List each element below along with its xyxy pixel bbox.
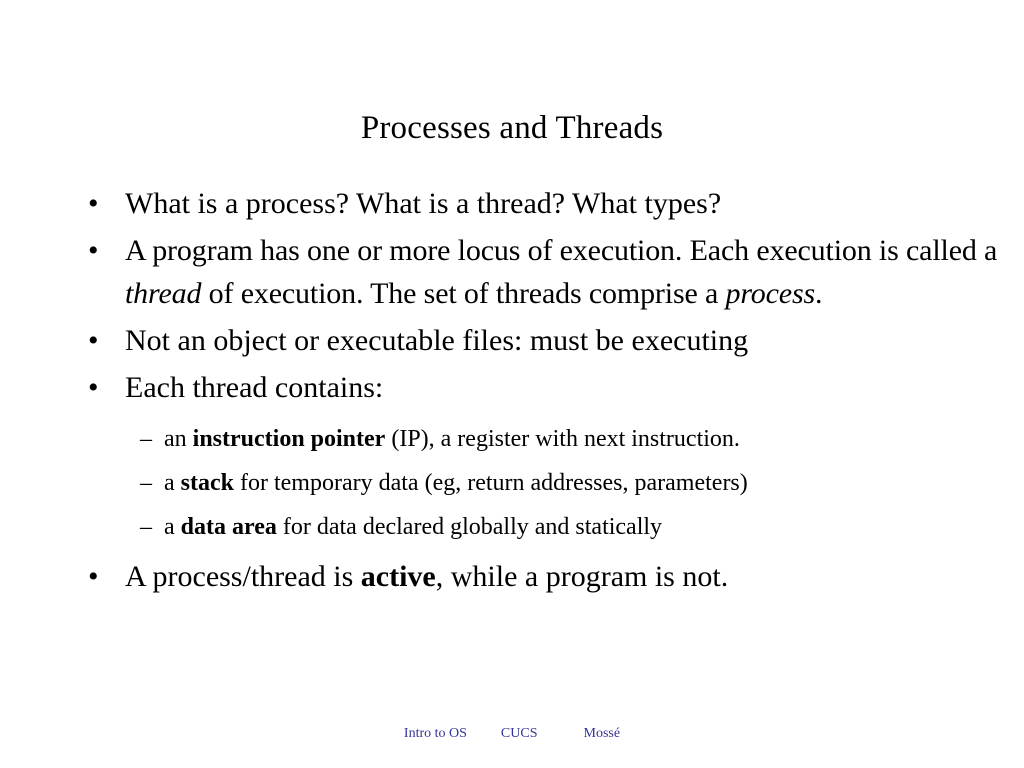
dash-marker-icon: –: [140, 417, 160, 461]
list-item-text: A program has one or more locus of execu…: [125, 229, 1000, 315]
list-item: • Each thread contains:: [0, 366, 1024, 409]
term-stack: stack: [181, 470, 234, 496]
text-run: a: [164, 514, 181, 540]
bullet-marker-icon: •: [88, 555, 106, 598]
text-run: , while a program is not.: [436, 560, 728, 593]
dash-marker-icon: –: [140, 505, 160, 549]
emphasis-thread: thread: [125, 277, 201, 310]
sub-list-item-text: an instruction pointer (IP), a register …: [164, 417, 1008, 461]
list-item-text: What is a process? What is a thread? Wha…: [125, 182, 1000, 225]
sub-list-item-text: a stack for temporary data (eg, return a…: [164, 461, 1008, 505]
text-run: .: [815, 277, 822, 310]
term-data-area: data area: [181, 514, 277, 540]
term-active: active: [361, 560, 436, 593]
text-run: (IP), a register with next instruction.: [385, 426, 740, 452]
bullet-marker-icon: •: [88, 182, 106, 225]
slide-footer: Intro to OSCUCSMossé: [0, 724, 1024, 744]
sub-list-item: – a stack for temporary data (eg, return…: [0, 461, 1024, 505]
sub-list-item: – an instruction pointer (IP), a registe…: [0, 417, 1024, 461]
emphasis-process: process: [726, 277, 816, 310]
text-run: for temporary data (eg, return addresses…: [234, 470, 748, 496]
list-item: • A process/thread is active, while a pr…: [0, 555, 1024, 598]
footer-institution: CUCS: [501, 724, 538, 744]
text-run: a: [164, 470, 181, 496]
term-instruction-pointer: instruction pointer: [193, 426, 386, 452]
page-title: Processes and Threads: [0, 108, 1024, 148]
bullet-list: • What is a process? What is a thread? W…: [0, 182, 1024, 598]
sub-list-item: – a data area for data declared globally…: [0, 505, 1024, 549]
footer-author: Mossé: [584, 724, 621, 744]
list-item-text: Each thread contains:: [125, 366, 1000, 409]
list-item: • Not an object or executable files: mus…: [0, 319, 1024, 362]
list-item: • What is a process? What is a thread? W…: [0, 182, 1024, 225]
text-run: of execution. The set of threads compris…: [201, 277, 725, 310]
text-run: for data declared globally and staticall…: [277, 514, 662, 540]
list-item-text: A process/thread is active, while a prog…: [125, 555, 1000, 598]
bullet-marker-icon: •: [88, 319, 106, 362]
bullet-marker-icon: •: [88, 366, 106, 409]
dash-marker-icon: –: [140, 461, 160, 505]
list-item-text: Not an object or executable files: must …: [125, 319, 1000, 362]
text-run: A process/thread is: [125, 560, 361, 593]
text-run: an: [164, 426, 193, 452]
sub-list-item-text: a data area for data declared globally a…: [164, 505, 1008, 549]
text-run: A program has one or more locus of execu…: [125, 234, 997, 267]
footer-course: Intro to OS: [404, 724, 467, 744]
sub-bullet-list: – an instruction pointer (IP), a registe…: [0, 417, 1024, 549]
bullet-marker-icon: •: [88, 229, 106, 272]
list-item: • A program has one or more locus of exe…: [0, 229, 1024, 315]
slide-canvas: Processes and Threads • What is a proces…: [0, 0, 1024, 768]
